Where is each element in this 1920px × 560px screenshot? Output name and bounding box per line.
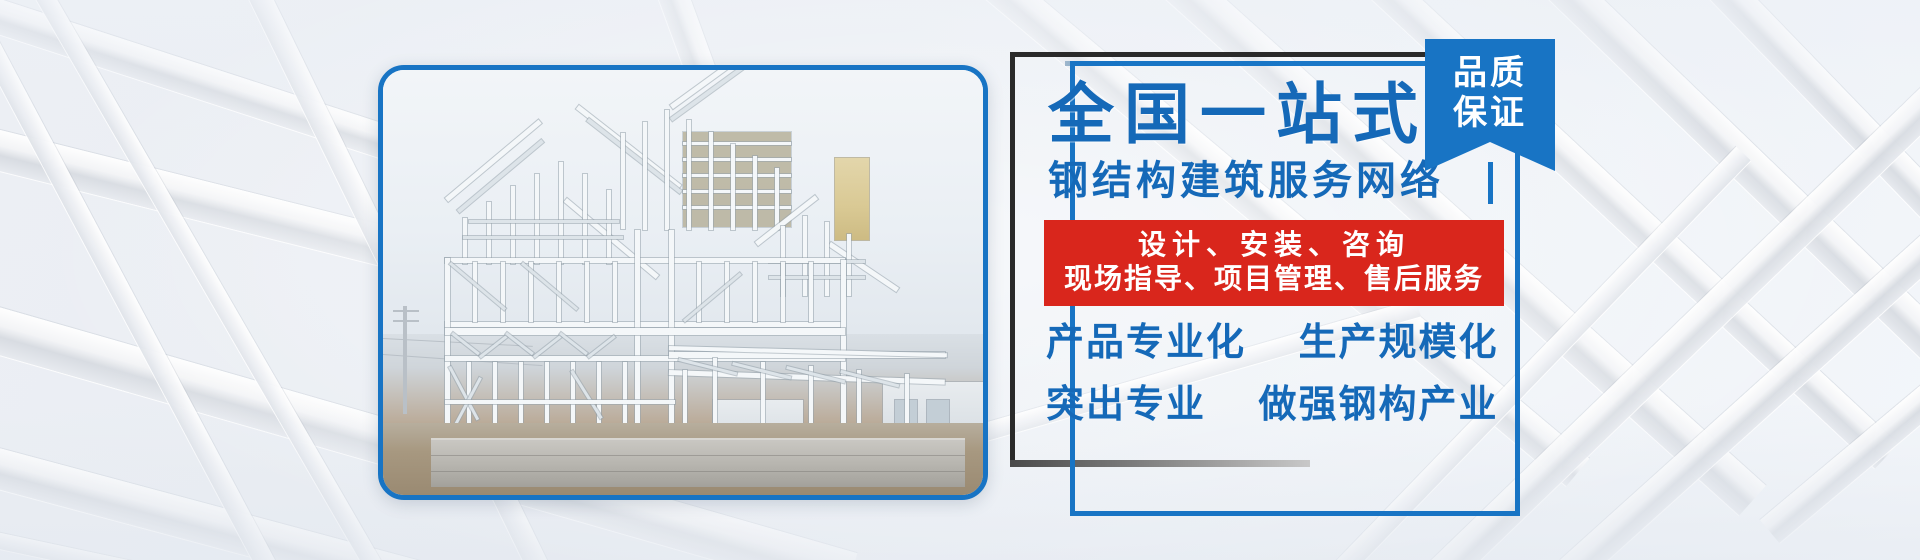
slogan-1-left: 产品专业化 [1046,320,1246,364]
promo-text-block: 品质 保证 全国一站式 钢结构建筑服务网络 设计、安装、咨询 现场指导、项目管理… [1010,52,1530,492]
badge-line-2: 保证 [1453,93,1527,133]
project-photo-card[interactable] [378,65,988,500]
services-line-1: 设计、安装、咨询 [1044,228,1504,262]
steel-frame-house-photo [383,70,983,495]
banner-stage: 品质 保证 全国一站式 钢结构建筑服务网络 设计、安装、咨询 现场指导、项目管理… [0,0,1920,560]
services-line-2: 现场指导、项目管理、售后服务 [1044,262,1504,296]
badge-stem [1488,162,1493,204]
slogan-1-right: 生产规模化 [1298,320,1498,364]
services-red-box: 设计、安装、咨询 现场指导、项目管理、售后服务 [1044,220,1504,306]
slogan-2-left: 突出专业 [1046,382,1206,426]
badge-line-1: 品质 [1453,53,1527,93]
slogan-row-1: 产品专业化 生产规模化 [1022,316,1522,368]
subtitle: 钢结构建筑服务网络 [1022,156,1522,206]
slogan-2-right: 做强钢构产业 [1258,382,1498,426]
slogan-row-2: 突出专业 做强钢构产业 [1022,378,1522,430]
